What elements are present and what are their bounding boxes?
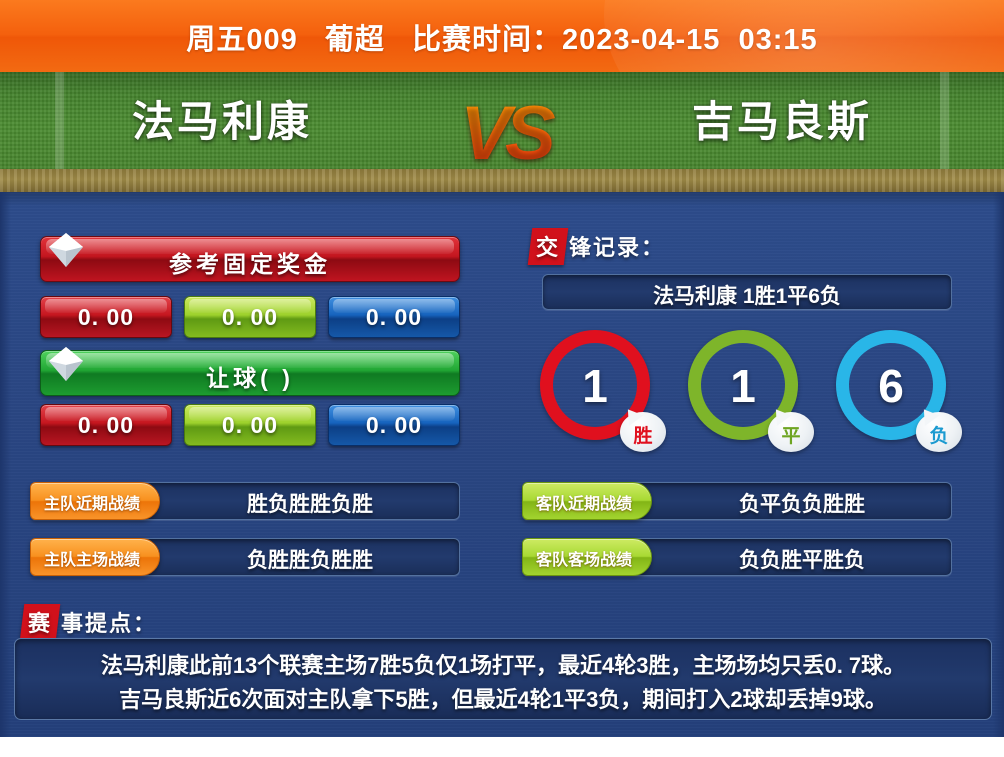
home-venue-form-tag: 主队主场战绩: [30, 538, 160, 576]
h2h-win-ring: 1 胜: [540, 330, 650, 440]
away-venue-form-value: 负负胜平胜负: [653, 544, 951, 574]
home-team-name: 法马利康: [52, 88, 392, 149]
home-venue-form-label: 主队主场战绩: [31, 546, 153, 570]
home-recent-form-tag: 主队近期战绩: [30, 482, 160, 520]
h2h-draw-badge-label: 平: [768, 421, 814, 448]
handicap-win-button[interactable]: 0. 00: [40, 404, 172, 446]
h2h-summary-text: 法马利康 1胜1平6负: [543, 280, 951, 310]
h2h-draw-ring: 1 平: [688, 330, 798, 440]
analysis-heading-text: 事提点：: [61, 611, 157, 636]
handicap-draw-value: 0. 00: [185, 412, 315, 439]
h2h-win-badge: 胜: [620, 412, 666, 452]
fixed-bonus-draw-button[interactable]: 0. 00: [184, 296, 316, 338]
h2h-heading-badge: 交: [528, 228, 569, 265]
fixed-bonus-win-value: 0. 00: [41, 304, 171, 331]
handicap-win-value: 0. 00: [41, 412, 171, 439]
h2h-lose-badge-label: 负: [916, 421, 962, 448]
h2h-heading-text: 锋记录：: [569, 235, 665, 260]
handicap-header: 让球( ): [40, 350, 460, 396]
away-recent-form-value: 负平负负胜胜: [653, 488, 951, 518]
panel-edge-left: [0, 192, 11, 737]
h2h-lose-badge: 负: [916, 412, 962, 452]
analysis-line-1: 法马利康此前13个联赛主场7胜5负仅1场打平，最近4轮3胜，主场场均只丢0. 7…: [25, 648, 981, 680]
h2h-section-heading: 交锋记录：: [530, 228, 665, 265]
fixed-bonus-lose-button[interactable]: 0. 00: [328, 296, 460, 338]
h2h-win-badge-label: 胜: [620, 421, 666, 448]
match-preview-infographic: 周五009 葡超 比赛时间：2023-04-15 03:15 法马利康 VS 吉…: [0, 0, 1004, 757]
fixed-bonus-header: 参考固定奖金: [40, 236, 460, 282]
analysis-box: 法马利康此前13个联赛主场7胜5负仅1场打平，最近4轮3胜，主场场均只丢0. 7…: [14, 638, 992, 720]
away-recent-form-label: 客队近期战绩: [523, 490, 645, 514]
away-recent-form-tag: 客队近期战绩: [522, 482, 652, 520]
away-team-name: 吉马良斯: [612, 88, 952, 149]
fixed-bonus-title: 参考固定奖金: [41, 245, 459, 279]
h2h-lose-ring: 6 负: [836, 330, 946, 440]
fixed-bonus-lose-value: 0. 00: [329, 304, 459, 331]
analysis-heading-badge: 赛: [20, 604, 61, 641]
home-venue-form-value: 负胜胜负胜胜: [161, 544, 459, 574]
analysis-section-heading: 赛事提点：: [22, 604, 157, 641]
page-title: 周五009 葡超 比赛时间：2023-04-15 03:15: [0, 16, 1004, 58]
away-venue-form-tag: 客队客场战绩: [522, 538, 652, 576]
home-recent-form-label: 主队近期战绩: [31, 490, 153, 514]
h2h-summary-bar: 法马利康 1胜1平6负: [542, 274, 952, 310]
header-bar: 周五009 葡超 比赛时间：2023-04-15 03:15: [0, 0, 1004, 72]
handicap-title: 让球( ): [41, 359, 459, 393]
analysis-line-2: 吉马良斯近6次面对主队拿下5胜，但最近4轮1平3负，期间打入2球却丢掉9球。: [25, 682, 981, 714]
h2h-draw-badge: 平: [768, 412, 814, 452]
home-recent-form-value: 胜负胜胜负胜: [161, 488, 459, 518]
panel-edge-right: [993, 192, 1004, 737]
fixed-bonus-win-button[interactable]: 0. 00: [40, 296, 172, 338]
away-venue-form-label: 客队客场战绩: [523, 546, 645, 570]
handicap-lose-value: 0. 00: [329, 412, 459, 439]
diamond-ornament-icon: [46, 344, 86, 384]
handicap-lose-button[interactable]: 0. 00: [328, 404, 460, 446]
handicap-draw-button[interactable]: 0. 00: [184, 404, 316, 446]
fixed-bonus-draw-value: 0. 00: [185, 304, 315, 331]
diamond-ornament-icon: [46, 230, 86, 270]
vs-icon: VS: [455, 78, 555, 190]
